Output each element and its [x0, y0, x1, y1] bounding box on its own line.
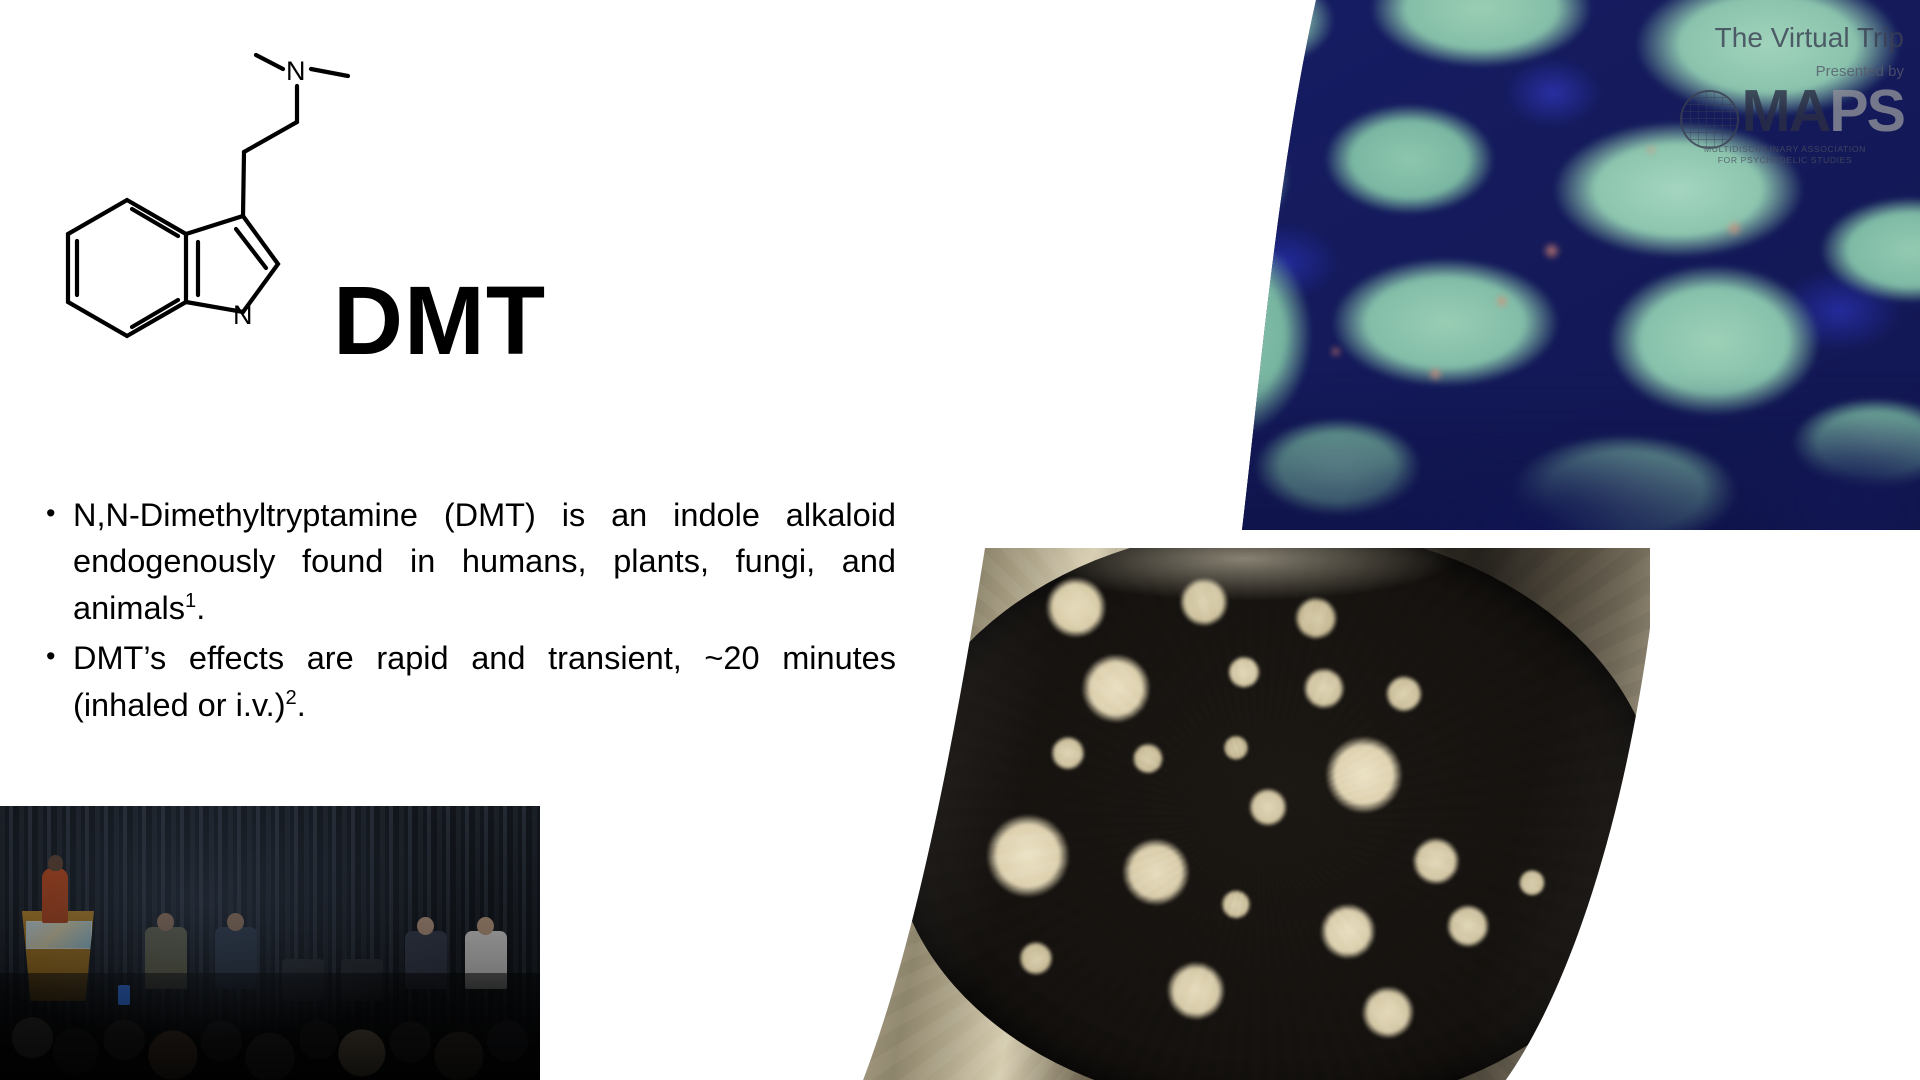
globe-icon [1680, 90, 1739, 149]
dish-glare [860, 548, 1660, 1080]
indole-n-label: N [233, 300, 253, 330]
bullet-text-1-footnote: 1 [185, 590, 196, 612]
logo-title: The Virtual Trip [1674, 24, 1904, 52]
bullet-marker: • [46, 635, 73, 678]
maps-tagline-line-2: FOR PSYCHEDELIC STUDIES [1670, 155, 1900, 166]
page-title: DMT [333, 272, 546, 369]
amine-n-label: N [286, 56, 306, 86]
bullet-item-1: • N,N-Dimethyltryptamine (DMT) is an ind… [46, 492, 896, 631]
bullet-text-2: DMT’s effects are rapid and transient, ~… [73, 635, 896, 728]
crystal-growth-petri-dish-photo [860, 548, 1660, 1080]
maps-virtual-trip-logo: The Virtual Trip Presented by MAPS MULTI… [1674, 24, 1904, 164]
maps-tagline: MULTIDISCIPLINARY ASSOCIATION FOR PSYCHE… [1670, 144, 1900, 165]
bullet-text-1: N,N-Dimethyltryptamine (DMT) is an indol… [73, 492, 896, 631]
slide-canvas: N N DMT • N,N-Dimethyltryptamine (DMT) i… [0, 0, 1920, 1080]
bullet-text-1-end: . [196, 590, 205, 626]
maps-wordmark: MAPS [1742, 82, 1904, 141]
maps-wordmark-dark: MA [1742, 78, 1830, 144]
bullet-text-2-main: DMT’s effects are rapid and transient, ~… [73, 640, 896, 722]
bullet-item-2: • DMT’s effects are rapid and transient,… [46, 635, 896, 728]
bullet-text-2-end: . [297, 687, 306, 723]
psychedelic-science-panel-photo [0, 806, 540, 1080]
bullet-text-2-footnote: 2 [286, 687, 297, 709]
bullet-marker: • [46, 492, 73, 535]
body-text-block: • N,N-Dimethyltryptamine (DMT) is an ind… [46, 492, 896, 732]
maps-tagline-line-1: MULTIDISCIPLINARY ASSOCIATION [1670, 144, 1900, 155]
logo-presented-by: Presented by [1674, 64, 1904, 79]
photo-shading [0, 806, 540, 1080]
maps-wordmark-light: PS [1829, 78, 1904, 144]
